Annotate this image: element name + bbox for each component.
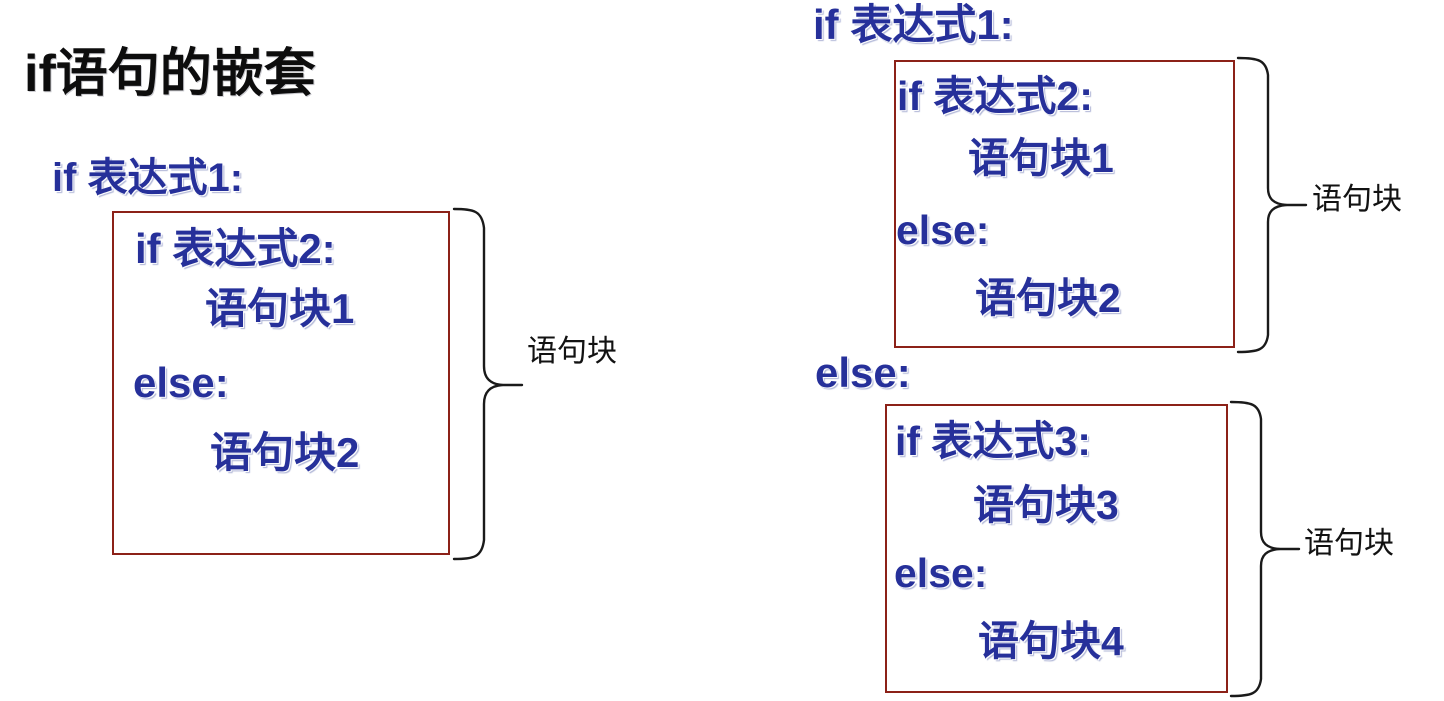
right-box2-line-3: else: [894, 553, 987, 594]
page-title: if语句的嵌套 [24, 48, 316, 100]
right-box2-line-1: if 表达式3: [895, 421, 1091, 462]
right-box2-line-4: 语句块4 [978, 621, 1124, 662]
left-box-line-4: 语句块2 [210, 432, 359, 474]
right-box1-line-4: 语句块2 [975, 278, 1121, 319]
right-if-header: if 表达式1: [813, 4, 1014, 46]
left-brace-icon [452, 206, 524, 562]
left-box-line-3: else: [133, 362, 229, 404]
right-brace-two-label: 语句块 [1304, 529, 1394, 559]
right-middle-else: else: [815, 352, 911, 394]
left-brace-label: 语句块 [527, 337, 617, 367]
right-box1-line-2: 语句块1 [968, 138, 1114, 179]
slide-canvas: if语句的嵌套 if 表达式1: if 表达式2: 语句块1 else: 语句块… [0, 0, 1444, 701]
right-box2-line-2: 语句块3 [973, 485, 1119, 526]
left-if-header: if 表达式1: [52, 158, 243, 198]
right-brace-one-icon [1236, 55, 1308, 355]
left-box-line-1: if 表达式2: [135, 228, 336, 270]
right-brace-one-label: 语句块 [1312, 185, 1402, 215]
left-box-line-2: 语句块1 [205, 288, 354, 330]
right-box1-line-3: else: [896, 210, 989, 251]
right-brace-two-icon [1229, 399, 1301, 699]
right-box1-line-1: if 表达式2: [897, 76, 1093, 117]
